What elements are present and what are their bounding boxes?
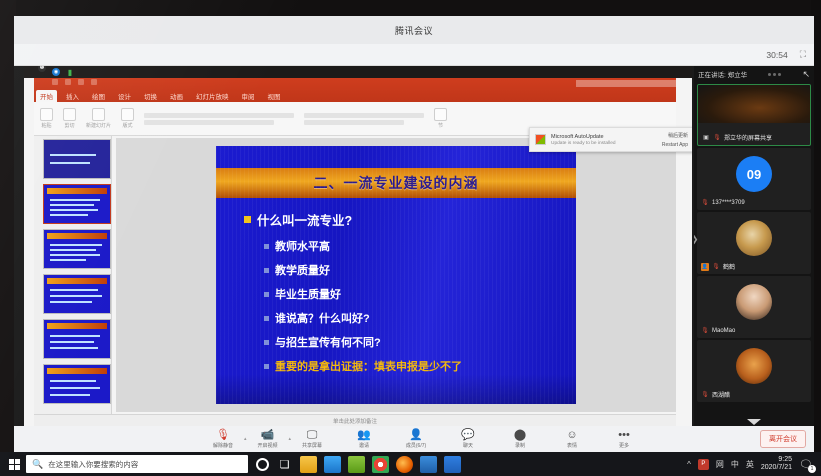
slide-thumbnail[interactable] — [43, 274, 111, 314]
toolbar-item-label: 录制 — [515, 442, 525, 449]
mic-off-icon: 🎙 — [701, 327, 709, 335]
slide-title-band: 二、一流专业建设的内涵 — [216, 168, 576, 198]
toolbar-video-button[interactable]: 📹 开启视频 — [251, 430, 285, 449]
screen-share-preview — [698, 85, 810, 123]
mic-off-icon: 🎙 — [713, 134, 721, 142]
taskbar-clock[interactable]: 9:25 2020/7/21 — [761, 456, 792, 472]
para-row-2 — [304, 120, 404, 125]
layout-icon — [121, 108, 134, 121]
app-blue-icon[interactable] — [444, 456, 461, 473]
bullet-square-icon — [264, 316, 269, 321]
toast-text: Microsoft AutoUpdate Update is ready to … — [551, 134, 657, 146]
participant-footer: 🎙 MaoMao — [697, 325, 811, 336]
app-icon-dark: ❶ — [38, 66, 46, 72]
avatar — [736, 220, 772, 256]
qat-present-icon[interactable] — [91, 79, 97, 85]
leave-meeting-button[interactable]: 离开会议 — [760, 430, 806, 448]
slide-title: 二、一流专业建设的内涵 — [314, 173, 479, 193]
host-taskbar-strip: ❶ ◉ ▮ — [24, 66, 692, 78]
toast-title: Microsoft AutoUpdate — [551, 134, 657, 140]
avatar — [736, 284, 772, 320]
ime-english-icon[interactable]: 英 — [746, 459, 754, 470]
slide-thumbnail-rail[interactable] — [34, 136, 112, 414]
toolbar-members-button[interactable]: 👤 成员(6/7) — [399, 430, 433, 449]
qat-redo-icon[interactable] — [78, 79, 84, 85]
slide-bullet-level2: 与招生宣传有何不同? — [264, 334, 566, 350]
start-button[interactable] — [4, 454, 24, 474]
fullscreen-icon[interactable]: ⛶ — [800, 49, 806, 60]
paste-icon — [40, 108, 53, 121]
windows-taskbar: 🔍 在这里输入你要搜索的内容 ❏ ^ P 网 中 英 9:25 2020/7/2… — [0, 452, 821, 476]
sidebar-more-icon[interactable] — [768, 73, 781, 76]
ribbon-group-label: 节 — [438, 122, 443, 129]
caret-down-icon[interactable] — [747, 419, 761, 425]
mic-off-icon: 🎙 — [701, 199, 709, 207]
participant-name: 137****3709 — [712, 200, 745, 206]
cortana-icon[interactable] — [256, 458, 269, 471]
toolbar-item-label: 解除静音 — [213, 442, 233, 449]
search-input[interactable]: 🔍 在这里输入你要搜索的内容 — [26, 455, 248, 473]
toolbar-emoji-button[interactable]: ☺ 表情 — [555, 430, 589, 449]
bullet-text: 教师水平高 — [275, 238, 330, 254]
mic-off-icon: 🎙 — [712, 263, 720, 271]
clock-date: 2020/7/21 — [761, 464, 792, 472]
bullet-square-icon — [244, 216, 251, 223]
clock-time: 9:25 — [778, 456, 792, 464]
chevron-left-icon[interactable]: ❯ — [694, 234, 699, 245]
tray-app-icon[interactable]: P — [698, 459, 709, 470]
bullet-square-icon — [264, 364, 269, 369]
powerpoint-ribbon: 开始 插入 绘图 设计 切换 动画 幻灯片放映 审阅 视图 — [34, 78, 676, 102]
toolbar-record-button[interactable]: ⬤ 录制 — [503, 430, 537, 449]
ribbon-tab-design[interactable]: 设计 — [114, 90, 135, 102]
participant-tile[interactable]: 👤 🎙 鹤鹤 — [697, 212, 811, 274]
participant-tile[interactable]: 09 🎙 137****3709 — [697, 148, 811, 210]
bullet-text: 谁说高？什么叫好? — [275, 310, 370, 326]
ribbon-title-strip — [576, 80, 676, 87]
slide-thumbnail[interactable] — [43, 139, 111, 179]
toolbar-item-label: 表情 — [567, 442, 577, 449]
notification-center-icon[interactable]: 🗨 1 — [799, 458, 813, 471]
current-slide: 二、一流专业建设的内涵 什么叫一流专业? 教师水平高 — [216, 146, 576, 404]
slide-vignette — [216, 374, 576, 404]
participant-sidebar: 正在讲话: 郑立华 ↖ ▣ 🎙 郑立华的屏幕共享 09 🎙 137****370… — [694, 66, 814, 426]
ribbon-tab-animations[interactable]: 动画 — [166, 90, 187, 102]
windows-logo-icon — [9, 459, 20, 470]
ribbon-group-label: 版式 — [123, 122, 133, 129]
participant-tile[interactable]: ▣ 🎙 郑立华的屏幕共享 — [697, 84, 811, 146]
ribbon-group-label: 粘贴 — [41, 122, 51, 129]
slide-bullet-level2: 毕业生质量好 — [264, 286, 566, 302]
task-view-icon[interactable]: ❏ — [276, 456, 293, 473]
quick-access-toolbar — [52, 79, 97, 85]
more-icon: ••• — [618, 430, 630, 441]
ribbon-tab-start[interactable]: 开始 — [36, 90, 57, 102]
restart-app-button[interactable]: Restart App — [662, 142, 688, 148]
tencent-meeting-window: 腾讯会议 – ❐ ✕ 30:54 ⛶ ❶ ◉ ▮ — [14, 16, 814, 452]
slide-bullet-level2: 教学质量好 — [264, 262, 566, 278]
ribbon-tab-list: 开始 插入 绘图 设计 切换 动画 幻灯片放映 审阅 视图 — [36, 90, 285, 102]
signal-icon: ▮ — [66, 68, 74, 76]
notes-placeholder[interactable]: 单击此处添加备注 — [333, 417, 377, 425]
toolbar-share-button[interactable]: 🖵 共享屏幕 — [295, 430, 329, 449]
slide-thumbnail[interactable] — [43, 319, 111, 359]
screen-photo: 腾讯会议 – ❐ ✕ 30:54 ⛶ ❶ ◉ ▮ — [0, 0, 821, 476]
toolbar-invite-button[interactable]: 👥 邀请 — [347, 430, 381, 449]
speaking-label: 正在讲话: 郑立华 — [698, 69, 747, 79]
collapse-sidebar-icon[interactable]: ↖ — [802, 69, 810, 80]
ribbon-group-cut[interactable]: 剪切 — [63, 108, 76, 129]
ribbon-tab-transitions[interactable]: 切换 — [140, 90, 161, 102]
toast-actions: 稍后更新 Restart App — [662, 132, 688, 148]
bullet-text: 教学质量好 — [275, 262, 330, 278]
toolbar-item-label: 共享屏幕 — [302, 442, 322, 449]
toolbar-more-button[interactable]: ••• 更多 — [607, 430, 641, 449]
toolbar-item-label: 开启视频 — [258, 442, 278, 449]
system-tray: ^ P 网 中 英 9:25 2020/7/21 🗨 1 — [687, 456, 817, 472]
toolbar-item-label: 邀请 — [359, 442, 369, 449]
slide-bullet-level1: 什么叫一流专业? — [244, 210, 566, 229]
emoji-icon: ☺ — [566, 430, 577, 441]
participant-name: 郑立华的屏幕共享 — [724, 133, 772, 142]
toolbar-item-label: 更多 — [619, 442, 629, 449]
notification-badge: 1 — [808, 465, 816, 473]
font-controls-group[interactable] — [144, 113, 294, 125]
network-icon[interactable]: 网 — [716, 459, 724, 470]
app-icon-blue: ◉ — [52, 68, 60, 76]
share-screen-icon: 🖵 — [307, 430, 318, 441]
participant-tile[interactable]: 🎙 MaoMao — [697, 276, 811, 338]
ribbon-tab-insert[interactable]: 插入 — [62, 90, 83, 102]
shared-screen-powerpoint: ❶ ◉ ▮ 开始 插入 绘图 设计 切换 动画 — [24, 66, 692, 426]
firefox-icon[interactable] — [396, 456, 413, 473]
bullet-square-icon — [264, 268, 269, 273]
qat-save-icon[interactable] — [52, 79, 58, 85]
window-title: 腾讯会议 — [395, 24, 433, 37]
toolbar-chat-button[interactable]: 💬 聊天 — [451, 430, 485, 449]
participant-footer: 🎙 西湖醋 — [697, 389, 811, 400]
participant-name: 鹤鹤 — [723, 262, 735, 271]
host-icon: 👤 — [701, 263, 709, 271]
microsoft-store-icon[interactable] — [324, 456, 341, 473]
taskbar-apps: ❏ — [256, 456, 461, 473]
toolbar-items: 🎙 解除静音 ▴ 📹 开启视频 ▴ 🖵 共享屏幕 👥 邀请 — [206, 430, 641, 449]
bullet-text: 与招生宣传有何不同? — [275, 334, 381, 350]
ribbon-group-shapes[interactable]: 节 — [434, 108, 447, 129]
ribbon-tab-slideshow[interactable]: 幻灯片放映 — [192, 90, 233, 102]
notes-icon[interactable] — [348, 456, 365, 473]
toast-subtitle: Update is ready to be installed — [551, 141, 657, 146]
chevron-up-icon-video[interactable]: ▴ — [289, 436, 292, 442]
bullet-square-icon — [264, 292, 269, 297]
meeting-subbar: 30:54 ⛶ — [14, 44, 814, 66]
slide-bullet-level2-highlight: 重要的是拿出证据：填表申报是少不了 — [264, 358, 566, 374]
bullet-square-icon — [264, 340, 269, 345]
ribbon-group-newslide[interactable]: 新建幻灯片 — [86, 108, 111, 129]
meeting-timer: 30:54 — [766, 50, 787, 60]
chat-icon: 💬 — [461, 430, 475, 441]
microsoft-logo-icon — [535, 134, 546, 145]
tray-expand-icon[interactable]: ^ — [687, 460, 691, 469]
participant-footer: 🎙 137****3709 — [697, 197, 811, 208]
font-row-1 — [144, 113, 294, 118]
record-icon: ⬤ — [514, 430, 526, 441]
mic-muted-icon: 🎙 — [216, 430, 230, 441]
paragraph-controls-group[interactable] — [304, 113, 424, 125]
window-titlebar: 腾讯会议 – ❐ ✕ — [14, 16, 814, 44]
slide-body: 什么叫一流专业? 教师水平高 教学质量好 毕业生质量好 — [236, 210, 566, 382]
shapes-icon — [434, 108, 447, 121]
bullet-text: 什么叫一流专业? — [257, 210, 352, 229]
ribbon-tab-view[interactable]: 视图 — [264, 90, 285, 102]
meeting-icon[interactable] — [420, 456, 437, 473]
search-placeholder: 在这里输入你要搜索的内容 — [48, 459, 138, 470]
para-row-1 — [304, 113, 424, 118]
scissors-icon — [63, 108, 76, 121]
slide-bullet-level2: 教师水平高 — [264, 238, 566, 254]
participant-tile[interactable]: 🎙 西湖醋 — [697, 340, 811, 402]
ribbon-group-paste[interactable]: 粘贴 — [40, 108, 53, 129]
file-explorer-icon[interactable] — [300, 456, 317, 473]
bullet-square-icon — [264, 244, 269, 249]
slide-canvas: 二、一流专业建设的内涵 什么叫一流专业? 教师水平高 — [116, 138, 676, 412]
search-icon: 🔍 — [32, 459, 43, 470]
update-later-button[interactable]: 稍后更新 — [668, 132, 688, 139]
avatar: 09 — [736, 156, 772, 192]
ribbon-tab-draw[interactable]: 绘图 — [88, 90, 109, 102]
chevron-up-icon-audio[interactable]: ▴ — [244, 436, 247, 442]
sidebar-header: 正在讲话: 郑立华 ↖ — [694, 66, 814, 82]
avatar — [736, 348, 772, 384]
mic-off-icon: 🎙 — [701, 391, 709, 399]
ribbon-group-layout[interactable]: 版式 — [121, 108, 134, 129]
ime-icon[interactable]: 中 — [731, 459, 739, 470]
monitor-bezel-top — [0, 0, 821, 16]
screen-share-icon: ▣ — [702, 134, 710, 142]
participant-footer: 👤 🎙 鹤鹤 — [697, 261, 811, 272]
slide-thumbnail[interactable] — [43, 184, 111, 224]
font-row-2 — [144, 120, 274, 125]
toolbar-item-label: 聊天 — [463, 442, 473, 449]
slide-bullet-level2: 谁说高？什么叫好? — [264, 310, 566, 326]
slide-thumbnail[interactable] — [43, 229, 111, 269]
participant-name: 西湖醋 — [712, 390, 730, 399]
video-off-icon: 📹 — [261, 430, 275, 441]
ribbon-group-label: 剪切 — [64, 122, 74, 129]
ribbon-tab-review[interactable]: 审阅 — [238, 90, 259, 102]
chrome-icon[interactable] — [372, 456, 389, 473]
toolbar-unmute-button[interactable]: 🎙 解除静音 — [206, 430, 240, 449]
meeting-toolbar: 🎙 解除静音 ▴ 📹 开启视频 ▴ 🖵 共享屏幕 👥 邀请 — [14, 426, 814, 452]
members-icon: 👤 — [409, 430, 423, 441]
participant-name: MaoMao — [712, 328, 735, 334]
autoupdate-toast[interactable]: Microsoft AutoUpdate Update is ready to … — [529, 127, 692, 152]
slide-thumbnail[interactable] — [43, 364, 111, 404]
participant-footer: ▣ 🎙 郑立华的屏幕共享 — [698, 132, 810, 143]
invite-icon: 👥 — [357, 430, 371, 441]
ribbon-group-label: 新建幻灯片 — [86, 122, 111, 129]
qat-undo-icon[interactable] — [65, 79, 71, 85]
bullet-text: 重要的是拿出证据：填表申报是少不了 — [275, 358, 462, 374]
bullet-text: 毕业生质量好 — [275, 286, 341, 302]
powerpoint-status-bar: 单击此处添加备注 — [34, 414, 676, 426]
toolbar-item-label: 成员(6/7) — [406, 442, 426, 449]
new-slide-icon — [92, 108, 105, 121]
